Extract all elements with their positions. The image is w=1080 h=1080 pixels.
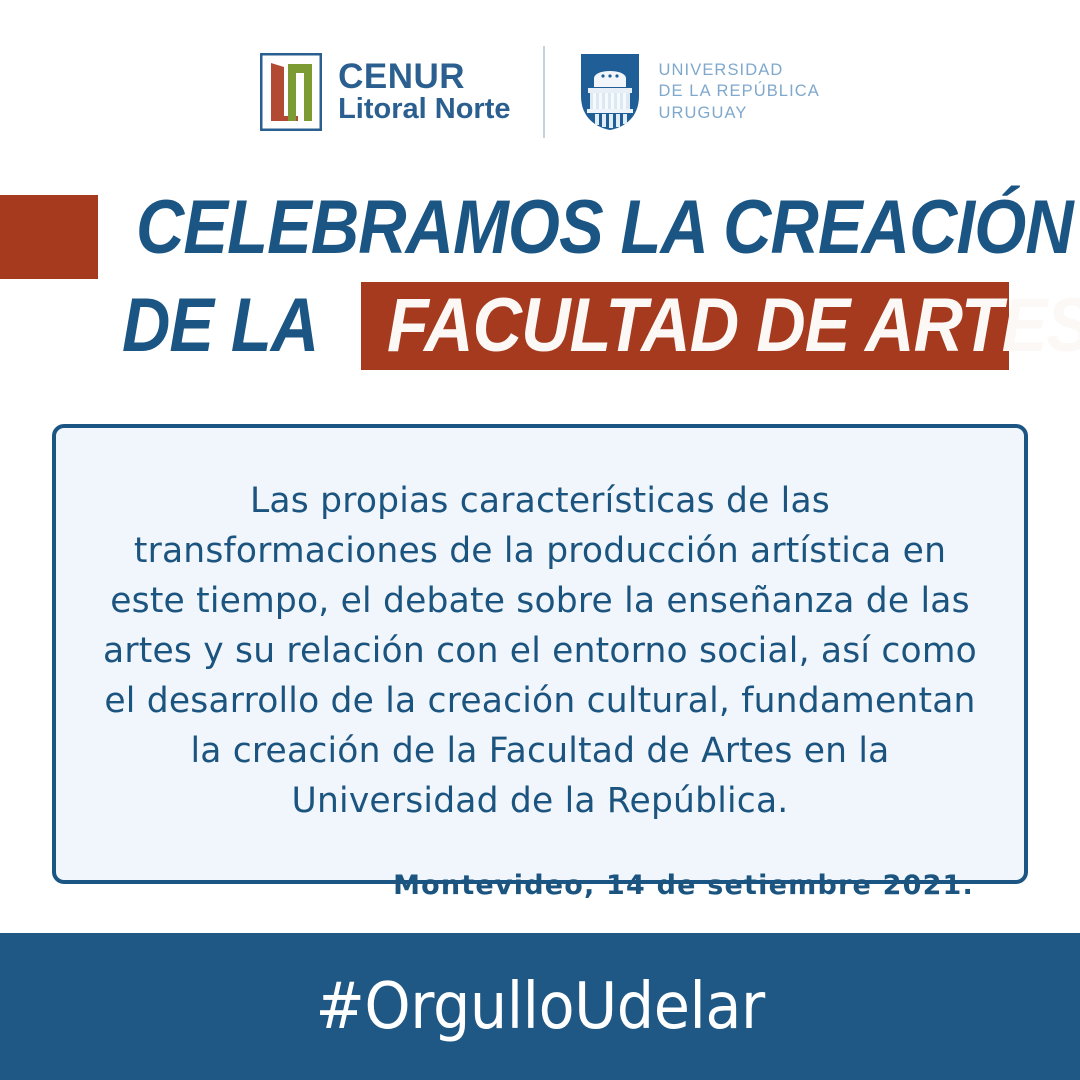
vertical-divider-icon <box>543 46 545 138</box>
page-title-line-1: CELEBRAMOS LA CREACIÓN <box>136 184 1073 271</box>
udelar-line-uruguay: URUGUAY <box>659 103 820 124</box>
cenur-name: CENUR <box>338 59 510 95</box>
cenur-book-logomark-icon <box>260 53 322 131</box>
cenur-subtitle: Litoral Norte <box>338 95 510 125</box>
title-block: CELEBRAMOS LA CREACIÓN DE LA FACULTAD DE… <box>0 178 1080 398</box>
footer-hashtag: #OrgulloUdelar <box>315 970 764 1044</box>
udelar-shield-building-icon <box>579 52 641 132</box>
statement-box: Las propias características de las trans… <box>52 424 1028 884</box>
header-logos: CENUR Litoral Norte <box>0 0 1080 178</box>
page-title-line-2: DE LA FACULTAD DE ARTES <box>122 282 1009 370</box>
statement-dateline: Montevideo, 14 de setiembre 2021. <box>100 870 980 901</box>
cenur-wordmark: CENUR Litoral Norte <box>338 59 510 124</box>
decorative-red-square <box>0 195 98 279</box>
page-title-highlight-band: FACULTAD DE ARTES <box>361 282 1009 370</box>
udelar-line-universidad: UNIVERSIDAD <box>659 60 820 81</box>
page-title-line-2-prefix: DE LA <box>122 282 322 370</box>
logo-row: CENUR Litoral Norte <box>260 46 820 138</box>
udelar-wordmark: UNIVERSIDAD DE LA REPÚBLICA URUGUAY <box>659 60 820 123</box>
udelar-logo: UNIVERSIDAD DE LA REPÚBLICA URUGUAY <box>579 52 820 132</box>
footer-band: #OrgulloUdelar <box>0 933 1080 1080</box>
cenur-logo: CENUR Litoral Norte <box>260 53 510 131</box>
statement-paragraph: Las propias características de las trans… <box>100 476 980 826</box>
page-title-highlight-text: FACULTAD DE ARTES <box>387 282 1080 370</box>
udelar-line-republica: DE LA REPÚBLICA <box>659 81 820 102</box>
